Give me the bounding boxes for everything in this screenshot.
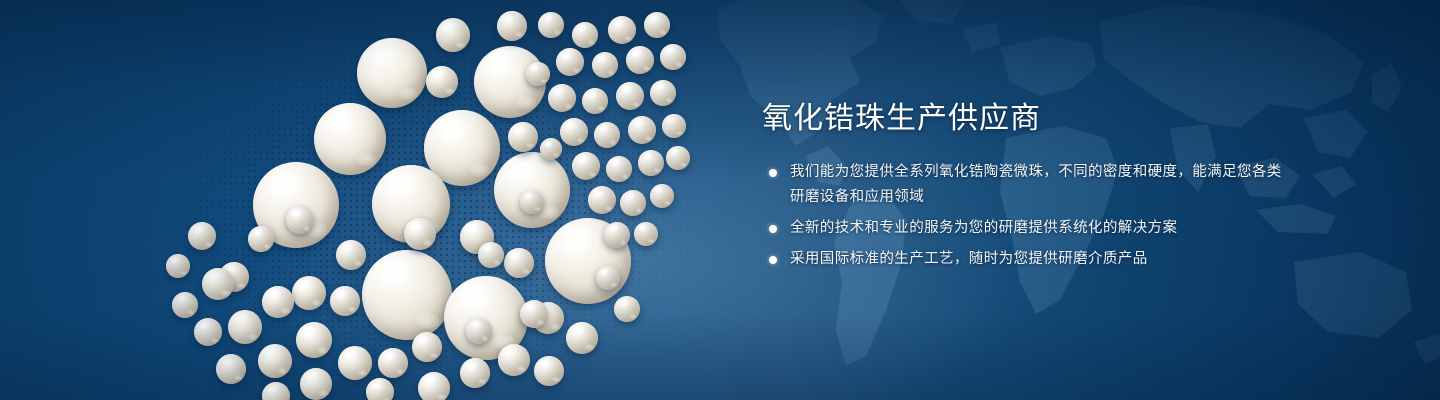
feature-list: 我们能为您提供全系列氧化锆陶瓷微珠，不同的密度和硬度，能满足您各类研磨设备和应用… (762, 160, 1282, 272)
hero-banner: 氧化锆珠生产供应商 我们能为您提供全系列氧化锆陶瓷微珠，不同的密度和硬度，能满足… (0, 0, 1440, 400)
list-item-label: 采用国际标准的生产工艺，随时为您提供研磨介质产品 (790, 251, 1148, 267)
bullet-dot-icon (769, 169, 777, 177)
page-title: 氧化锆珠生产供应商 (762, 100, 1282, 138)
banner-copy: 氧化锆珠生产供应商 我们能为您提供全系列氧化锆陶瓷微珠，不同的密度和硬度，能满足… (762, 100, 1282, 278)
list-item: 我们能为您提供全系列氧化锆陶瓷微珠，不同的密度和硬度，能满足您各类研磨设备和应用… (762, 160, 1282, 210)
list-item: 采用国际标准的生产工艺，随时为您提供研磨介质产品 (762, 247, 1282, 272)
list-item: 全新的技术和专业的服务为您的研磨提供系统化的解决方案 (762, 216, 1282, 241)
list-item-label: 我们能为您提供全系列氧化锆陶瓷微珠，不同的密度和硬度，能满足您各类研磨设备和应用… (790, 164, 1282, 205)
bullet-dot-icon (769, 256, 777, 264)
list-item-label: 全新的技术和专业的服务为您的研磨提供系统化的解决方案 (790, 220, 1177, 236)
bullet-dot-icon (769, 225, 777, 233)
